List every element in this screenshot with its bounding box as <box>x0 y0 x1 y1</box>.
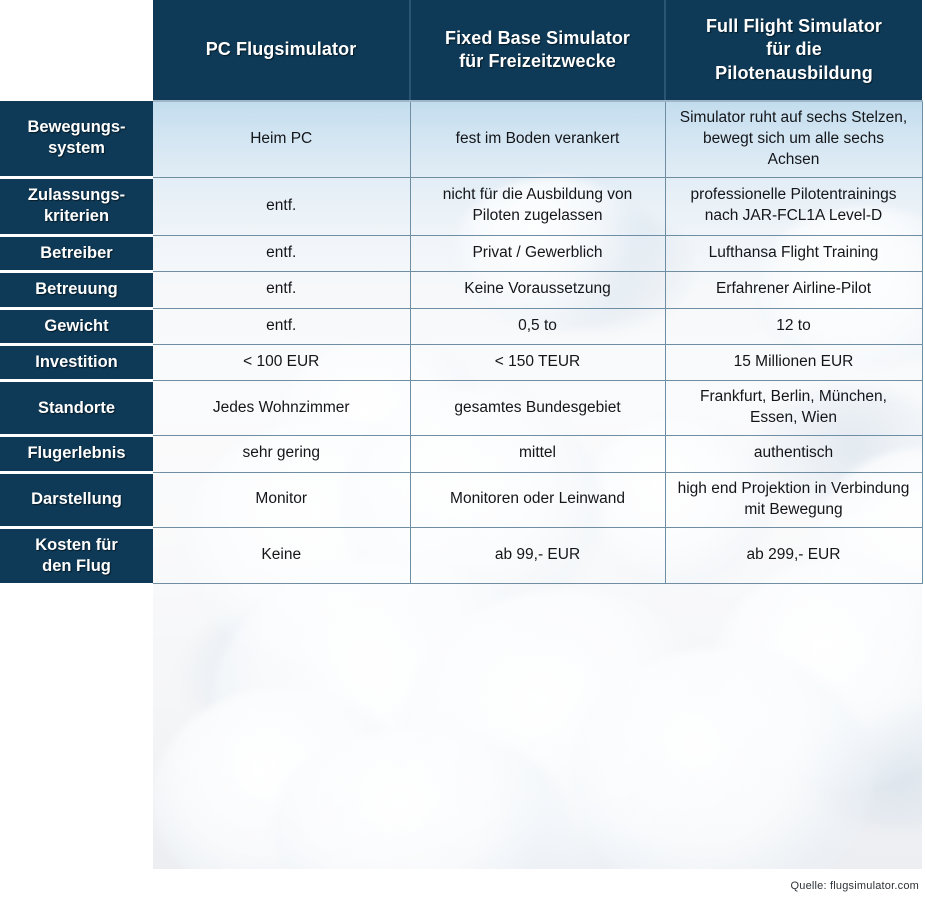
table-row: Standorte Jedes Wohnzimmer gesamtes Bund… <box>0 381 922 436</box>
table-body: Bewegungs-system Heim PC fest im Boden v… <box>0 101 922 583</box>
row-label-darstellung: Darstellung <box>0 472 153 527</box>
cell-kosten-pc: Keine <box>153 527 410 583</box>
cell-investition-full-flight: 15 Millionen EUR <box>665 344 922 380</box>
cell-bewegungssystem-pc: Heim PC <box>153 101 410 177</box>
cell-zulassungskriterien-full-flight: professionelle Pilotentrainings nach JAR… <box>665 177 922 235</box>
row-label-investition: Investition <box>0 344 153 380</box>
table-row: Darstellung Monitor Monitoren oder Leinw… <box>0 472 922 527</box>
row-label-kosten-fuer-den-flug: Kosten fürden Flug <box>0 527 153 583</box>
row-label-zulassungskriterien: Zulassungs-kriterien <box>0 177 153 235</box>
table-row: Flugerlebnis sehr gering mittel authenti… <box>0 436 922 472</box>
row-label-bewegungssystem: Bewegungs-system <box>0 101 153 177</box>
cell-investition-pc: < 100 EUR <box>153 344 410 380</box>
cell-flugerlebnis-pc: sehr gering <box>153 436 410 472</box>
cell-standorte-full-flight: Frankfurt, Berlin, München, Essen, Wien <box>665 381 922 436</box>
cell-darstellung-pc: Monitor <box>153 472 410 527</box>
cell-investition-fixed-base: < 150 TEUR <box>410 344 665 380</box>
table-row: Kosten fürden Flug Keine ab 99,- EUR ab … <box>0 527 922 583</box>
cell-betreuung-fixed-base: Keine Voraussetzung <box>410 272 665 308</box>
cell-standorte-fixed-base: gesamtes Bundesgebiet <box>410 381 665 436</box>
table-row: Betreiber entf. Privat / Gewerblich Luft… <box>0 235 922 271</box>
row-label-betreuung: Betreuung <box>0 272 153 308</box>
cell-gewicht-pc: entf. <box>153 308 410 344</box>
comparison-table-page: PC Flugsimulator Fixed Base Simulatorfür… <box>0 0 925 900</box>
table-header: PC Flugsimulator Fixed Base Simulatorfür… <box>0 0 922 101</box>
cell-betreuung-full-flight: Erfahrener Airline-Pilot <box>665 272 922 308</box>
column-header-full-flight-simulator: Full Flight Simulatorfür diePilotenausbi… <box>665 0 922 101</box>
cell-gewicht-full-flight: 12 to <box>665 308 922 344</box>
cell-zulassungskriterien-fixed-base: nicht für die Ausbildung von Piloten zug… <box>410 177 665 235</box>
cell-flugerlebnis-full-flight: authentisch <box>665 436 922 472</box>
cell-gewicht-fixed-base: 0,5 to <box>410 308 665 344</box>
cell-bewegungssystem-fixed-base: fest im Boden verankert <box>410 101 665 177</box>
simulator-comparison-table: PC Flugsimulator Fixed Base Simulatorfür… <box>0 0 923 584</box>
cell-kosten-full-flight: ab 299,- EUR <box>665 527 922 583</box>
cell-darstellung-fixed-base: Monitoren oder Leinwand <box>410 472 665 527</box>
source-caption: Quelle: flugsimulator.com <box>791 880 920 892</box>
cell-betreiber-fixed-base: Privat / Gewerblich <box>410 235 665 271</box>
cell-kosten-fixed-base: ab 99,- EUR <box>410 527 665 583</box>
header-row: PC Flugsimulator Fixed Base Simulatorfür… <box>0 0 922 101</box>
row-label-standorte: Standorte <box>0 381 153 436</box>
table-row: Betreuung entf. Keine Voraussetzung Erfa… <box>0 272 922 308</box>
corner-cell <box>0 0 153 101</box>
cell-standorte-pc: Jedes Wohnzimmer <box>153 381 410 436</box>
cell-bewegungssystem-full-flight: Simulator ruht auf sechs Stelzen, bewegt… <box>665 101 922 177</box>
cell-betreuung-pc: entf. <box>153 272 410 308</box>
cell-betreiber-pc: entf. <box>153 235 410 271</box>
row-label-betreiber: Betreiber <box>0 235 153 271</box>
table-row: Zulassungs-kriterien entf. nicht für die… <box>0 177 922 235</box>
cell-flugerlebnis-fixed-base: mittel <box>410 436 665 472</box>
cell-betreiber-full-flight: Lufthansa Flight Training <box>665 235 922 271</box>
column-header-fixed-base-simulator: Fixed Base Simulatorfür Freizeitzwecke <box>410 0 665 101</box>
row-label-gewicht: Gewicht <box>0 308 153 344</box>
column-header-pc-flugsimulator: PC Flugsimulator <box>153 0 410 101</box>
cell-darstellung-full-flight: high end Projektion in Verbindung mit Be… <box>665 472 922 527</box>
table-row: Investition < 100 EUR < 150 TEUR 15 Mill… <box>0 344 922 380</box>
table-row: Bewegungs-system Heim PC fest im Boden v… <box>0 101 922 177</box>
row-label-flugerlebnis: Flugerlebnis <box>0 436 153 472</box>
table-row: Gewicht entf. 0,5 to 12 to <box>0 308 922 344</box>
cell-zulassungskriterien-pc: entf. <box>153 177 410 235</box>
